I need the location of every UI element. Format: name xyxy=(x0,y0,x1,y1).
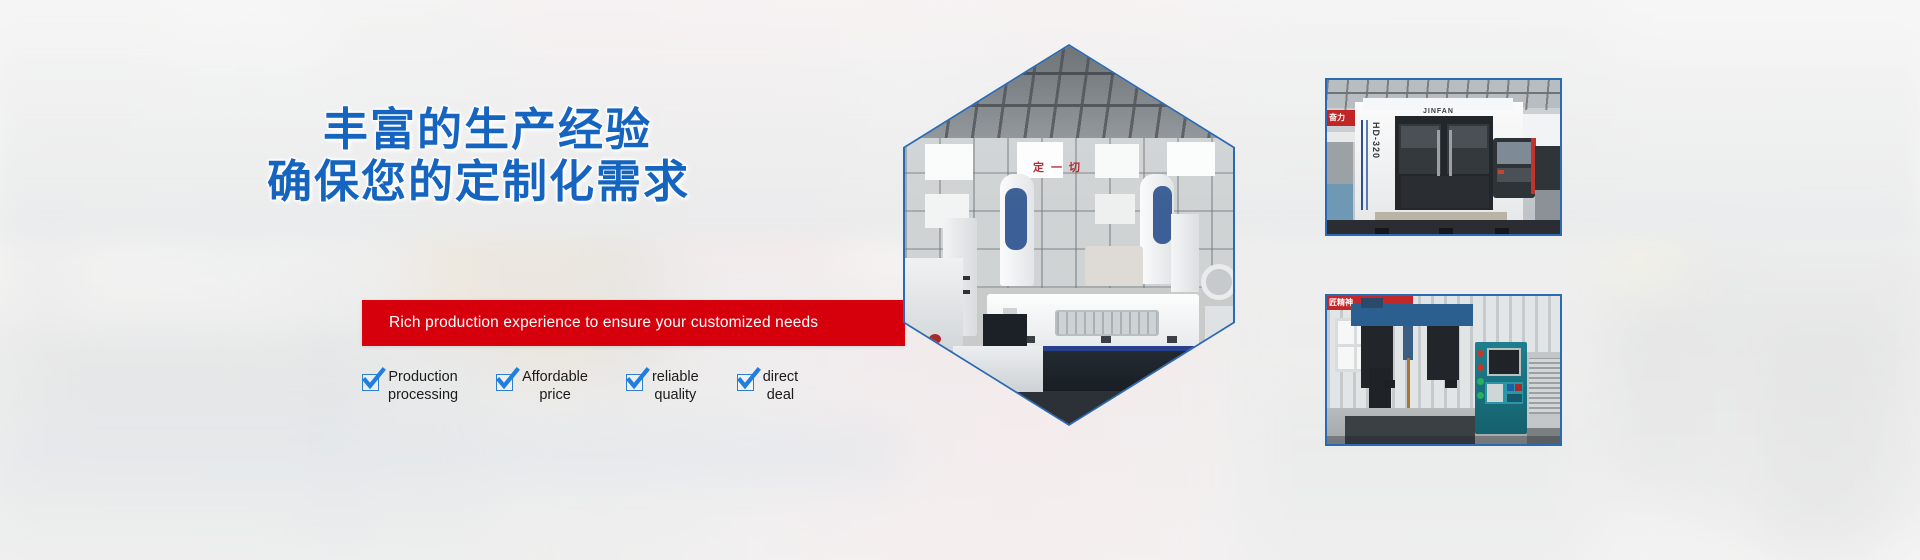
feature-label-line-1: Production xyxy=(388,368,458,386)
hd320-machine-image: 奋力 HD-320 JINFAN xyxy=(1327,80,1560,234)
feature-label-line-2: deal xyxy=(763,386,798,404)
feature-label-line-2: quality xyxy=(652,386,699,404)
hexagon-photo[interactable]: 定一切 xyxy=(903,44,1235,426)
feature-item[interactable]: Affordable price xyxy=(496,368,588,404)
feature-label-line-2: processing xyxy=(388,386,458,404)
subtitle-bar: Rich production experience to ensure you… xyxy=(362,300,905,346)
subtitle-text: Rich production experience to ensure you… xyxy=(389,314,818,332)
machine-brand-label: JINFAN xyxy=(1423,108,1454,115)
checkbox-checked-icon xyxy=(737,374,754,391)
feature-label: direct deal xyxy=(763,368,798,404)
feature-label-line-1: Affordable xyxy=(522,368,588,386)
page-title: 丰富的生产经验 确保您的定制化需求 xyxy=(0,104,700,208)
feature-label: Production processing xyxy=(388,368,458,404)
headline-line-2: 确保您的定制化需求 xyxy=(0,156,700,208)
feature-label-line-1: reliable xyxy=(652,368,699,386)
feature-item[interactable]: reliable quality xyxy=(626,368,699,404)
factory-production-line-image: 定一切 xyxy=(905,46,1233,424)
hero-banner: 丰富的生产经验 确保您的定制化需求 Rich production experi… xyxy=(0,0,1920,560)
thumbnail-machine-hd320[interactable]: 奋力 HD-320 JINFAN xyxy=(1325,78,1562,236)
checkbox-checked-icon xyxy=(626,374,643,391)
feature-label: Affordable price xyxy=(522,368,588,404)
thumbnail-gantry-drilling-machine[interactable]: 匠精神 xyxy=(1325,294,1562,446)
checkbox-checked-icon xyxy=(496,374,513,391)
feature-item[interactable]: direct deal xyxy=(737,368,798,404)
feature-label-line-2: price xyxy=(522,386,588,404)
banner-copy: 丰富的生产经验 确保您的定制化需求 Rich production experi… xyxy=(0,0,920,560)
feature-label-line-1: direct xyxy=(763,368,798,386)
gantry-drilling-machine-image: 匠精神 xyxy=(1327,296,1560,444)
feature-list: Production processing Affordable price xyxy=(362,368,798,404)
headline-line-1: 丰富的生产经验 xyxy=(0,104,700,156)
feature-label: reliable quality xyxy=(652,368,699,404)
checkbox-checked-icon xyxy=(362,374,379,391)
machine-model-label: HD-320 xyxy=(1371,122,1381,159)
hexagon-photo-inner: 定一切 xyxy=(905,46,1233,424)
feature-item[interactable]: Production processing xyxy=(362,368,458,404)
